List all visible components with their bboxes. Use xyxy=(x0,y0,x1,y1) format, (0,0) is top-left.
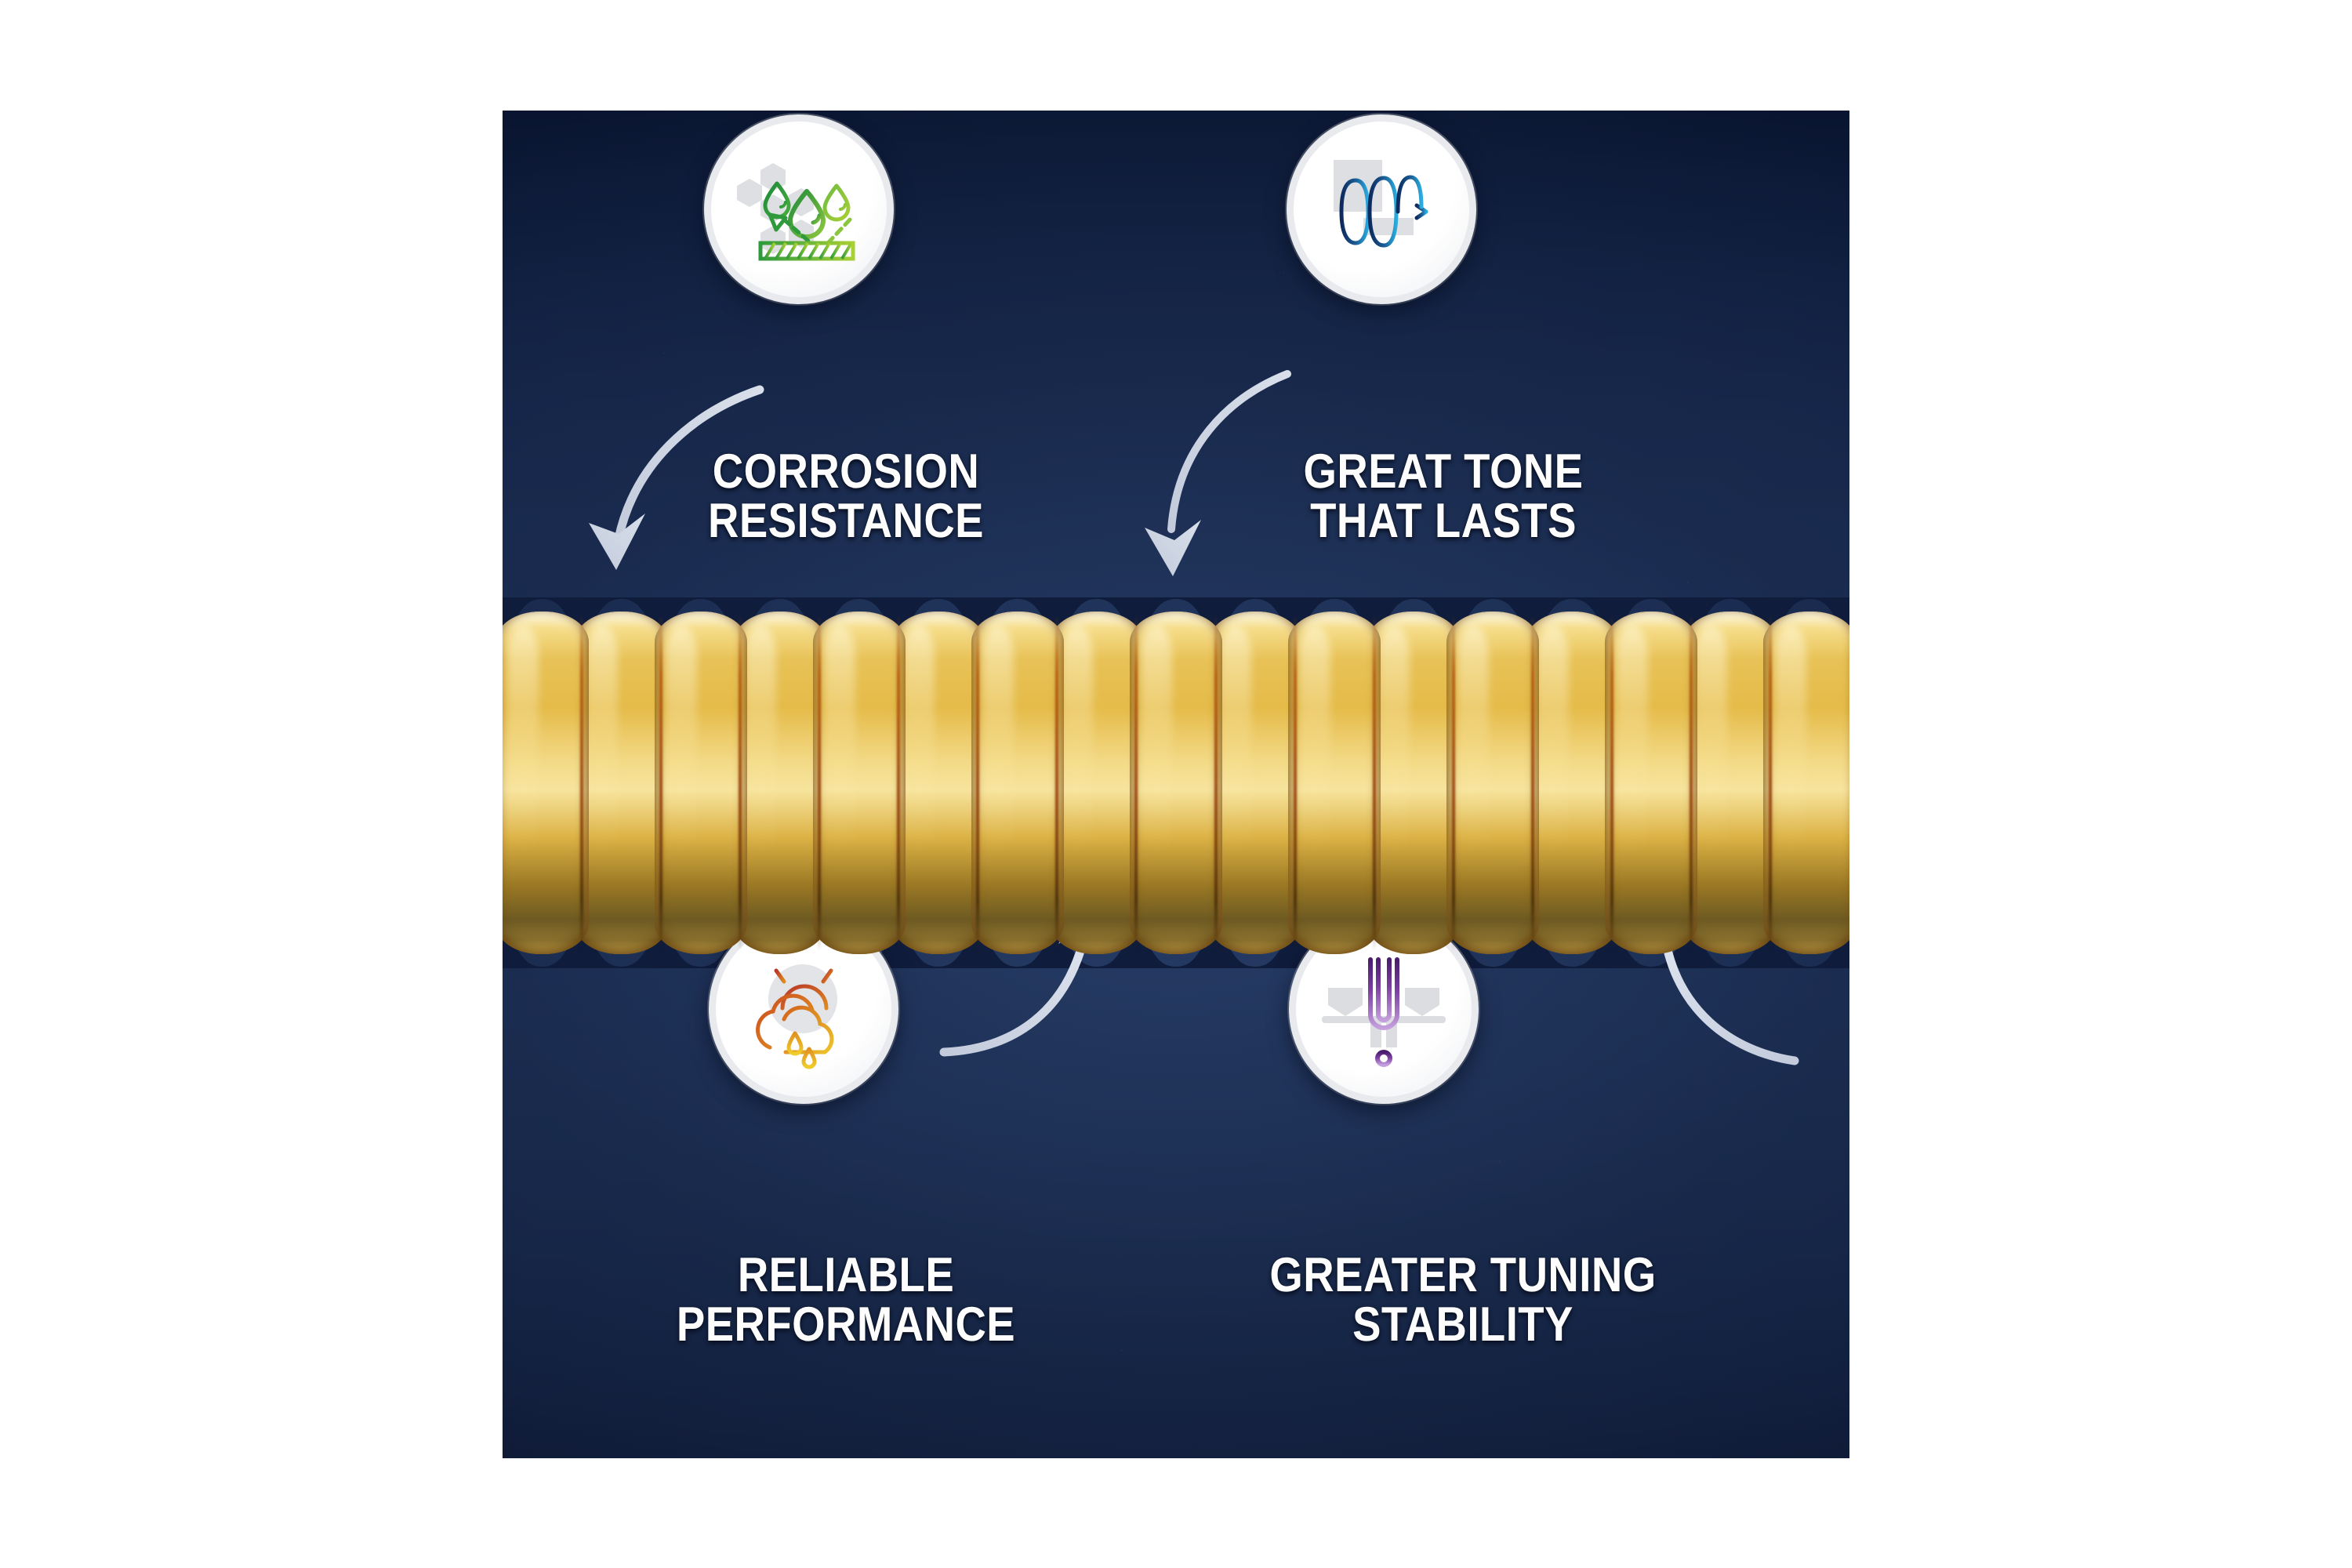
string-coil-separator xyxy=(1214,615,1218,951)
product-feature-panel: CORROSION RESISTANCE xyxy=(503,111,1849,1458)
string-coil-separator xyxy=(659,615,662,951)
string-coil-separator xyxy=(739,615,742,951)
string-coil-separator xyxy=(1294,615,1297,951)
string-coil-separator xyxy=(1690,615,1693,951)
string-coil-separator xyxy=(818,615,821,951)
string-coil-separator xyxy=(1531,615,1534,951)
string-coil xyxy=(1446,612,1539,954)
string-coil-separator xyxy=(1452,615,1455,951)
string-coil xyxy=(1763,612,1849,954)
string-coil xyxy=(1605,612,1697,954)
string-coil xyxy=(503,612,589,954)
water-droplets-repellent-coating-icon xyxy=(732,143,866,276)
string-coil-separator xyxy=(897,615,900,951)
sine-sound-wave-icon xyxy=(1315,143,1448,276)
icon-bubble-great-tone[interactable] xyxy=(1287,114,1476,304)
tuning-fork-icon xyxy=(1317,942,1450,1076)
string-coil-separator xyxy=(1373,615,1376,951)
string-coil xyxy=(1130,612,1222,954)
feature-label-corrosion-resistance: CORROSION RESISTANCE xyxy=(619,447,1074,546)
string-coil-separator xyxy=(1769,615,1772,951)
string-coil-separator xyxy=(1134,615,1138,951)
string-coil-separator xyxy=(976,615,979,951)
gold-coiled-guitar-string xyxy=(503,612,1849,954)
string-coil xyxy=(1288,612,1381,954)
string-coil-separator xyxy=(1055,615,1058,951)
icon-bubble-corrosion-resistance[interactable] xyxy=(704,114,894,304)
feature-label-reliable-performance: RELIABLE PERFORMANCE xyxy=(604,1250,1087,1349)
sun-cloud-rain-weather-icon xyxy=(737,942,870,1076)
string-coil xyxy=(655,612,747,954)
string-coil-separator xyxy=(580,615,583,951)
string-coil xyxy=(971,612,1064,954)
string-coil xyxy=(813,612,906,954)
string-coil xyxy=(575,612,667,954)
string-coil-separator xyxy=(1610,615,1613,951)
infographic-canvas: CORROSION RESISTANCE xyxy=(0,0,2352,1568)
feature-label-great-tone: GREAT TONE THAT LASTS xyxy=(1216,447,1671,546)
feature-label-greater-tuning-stability: GREATER TUNING STABILITY xyxy=(1207,1250,1718,1349)
string-coil-windings xyxy=(503,612,1849,954)
